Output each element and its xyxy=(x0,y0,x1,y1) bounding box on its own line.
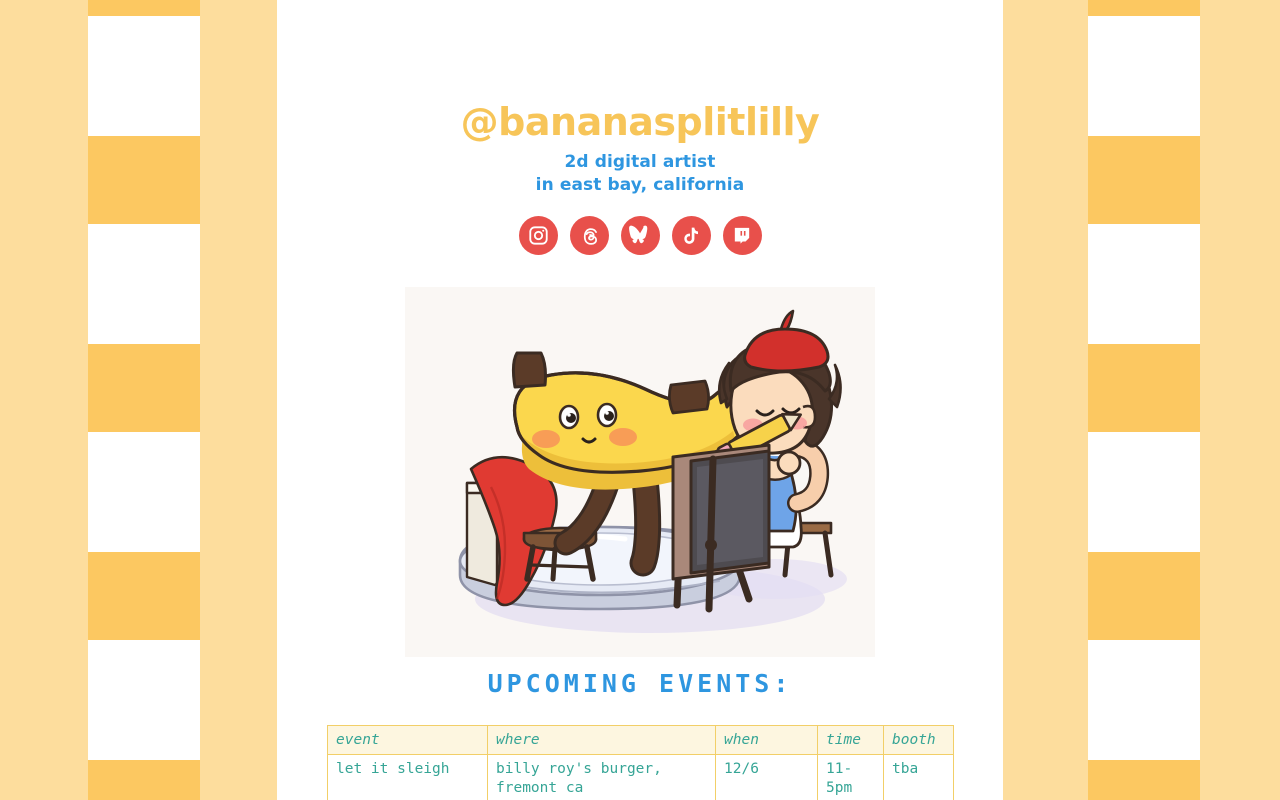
column-header-event: event xyxy=(328,725,488,755)
column-header-time: time xyxy=(818,725,884,755)
table-header-row: event where when time booth xyxy=(328,725,954,755)
tagline-line-1: 2d digital artist xyxy=(277,151,1003,174)
tagline: 2d digital artist in east bay, californi… xyxy=(277,151,1003,198)
events-table: event where when time booth let it sleig… xyxy=(327,725,954,800)
threads-icon xyxy=(579,225,600,246)
tiktok-icon xyxy=(681,225,701,246)
artist-illustration xyxy=(405,287,875,657)
upcoming-events-heading: UPCOMING EVENTS: xyxy=(277,669,1003,699)
column-header-booth: booth xyxy=(884,725,954,755)
social-link-instagram[interactable] xyxy=(519,216,558,255)
content-card: @bananasplitlilly 2d digital artist in e… xyxy=(277,0,1003,800)
events-table-container: event where when time booth let it sleig… xyxy=(327,725,953,800)
cell-where: billy roy's burger, fremont ca xyxy=(488,755,716,800)
page-title-handle: @bananasplitlilly xyxy=(277,103,1003,143)
twitch-icon xyxy=(732,225,752,245)
cell-when: 12/6 xyxy=(716,755,818,800)
bluesky-butterfly-icon xyxy=(629,225,651,245)
social-link-tiktok[interactable] xyxy=(672,216,711,255)
social-link-bluesky[interactable] xyxy=(621,216,660,255)
social-links xyxy=(277,216,1003,255)
social-link-threads[interactable] xyxy=(570,216,609,255)
column-header-where: where xyxy=(488,725,716,755)
cell-event: let it sleigh xyxy=(328,755,488,800)
instagram-icon xyxy=(528,225,549,246)
cell-booth: tba xyxy=(884,755,954,800)
social-link-twitch[interactable] xyxy=(723,216,762,255)
cell-time: 11-5pm xyxy=(818,755,884,800)
tagline-line-2: in east bay, california xyxy=(277,174,1003,197)
column-header-when: when xyxy=(716,725,818,755)
table-row: let it sleigh billy roy's burger, fremon… xyxy=(328,755,954,800)
